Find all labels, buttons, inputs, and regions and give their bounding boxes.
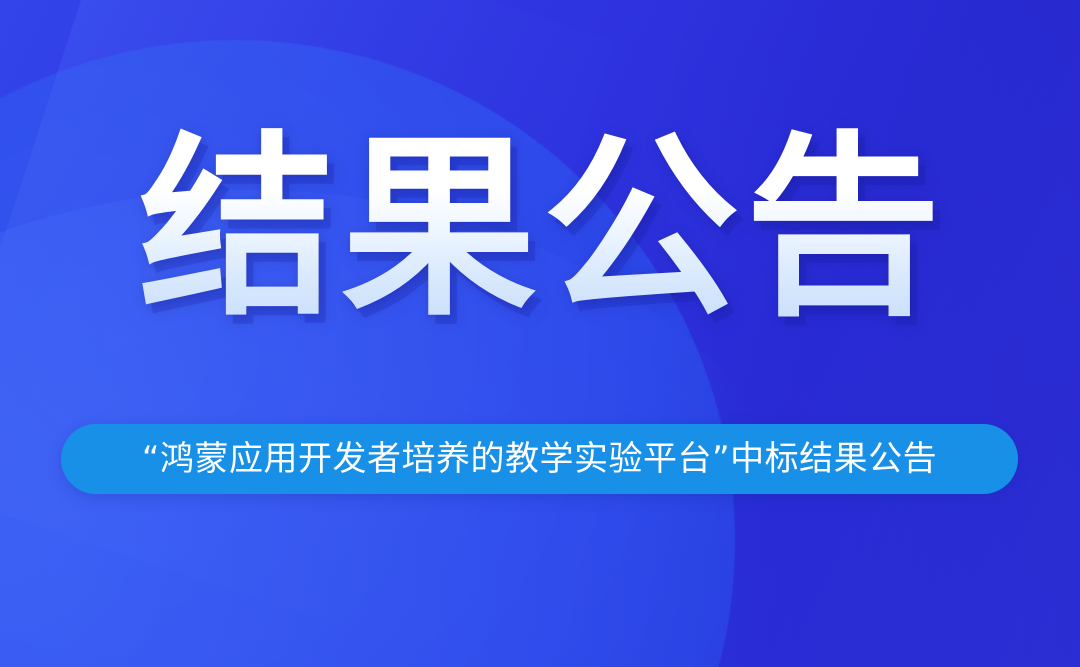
- title-container: 结果公告: [0, 128, 1080, 332]
- page-title: 结果公告: [133, 128, 947, 332]
- announcement-banner: 结果公告 “鸿蒙应用开发者培养的教学实验平台”中标结果公告: [0, 0, 1080, 667]
- subtitle-text: “鸿蒙应用开发者培养的教学实验平台”中标结果公告: [142, 442, 937, 476]
- subtitle-pill: “鸿蒙应用开发者培养的教学实验平台”中标结果公告: [61, 424, 1018, 494]
